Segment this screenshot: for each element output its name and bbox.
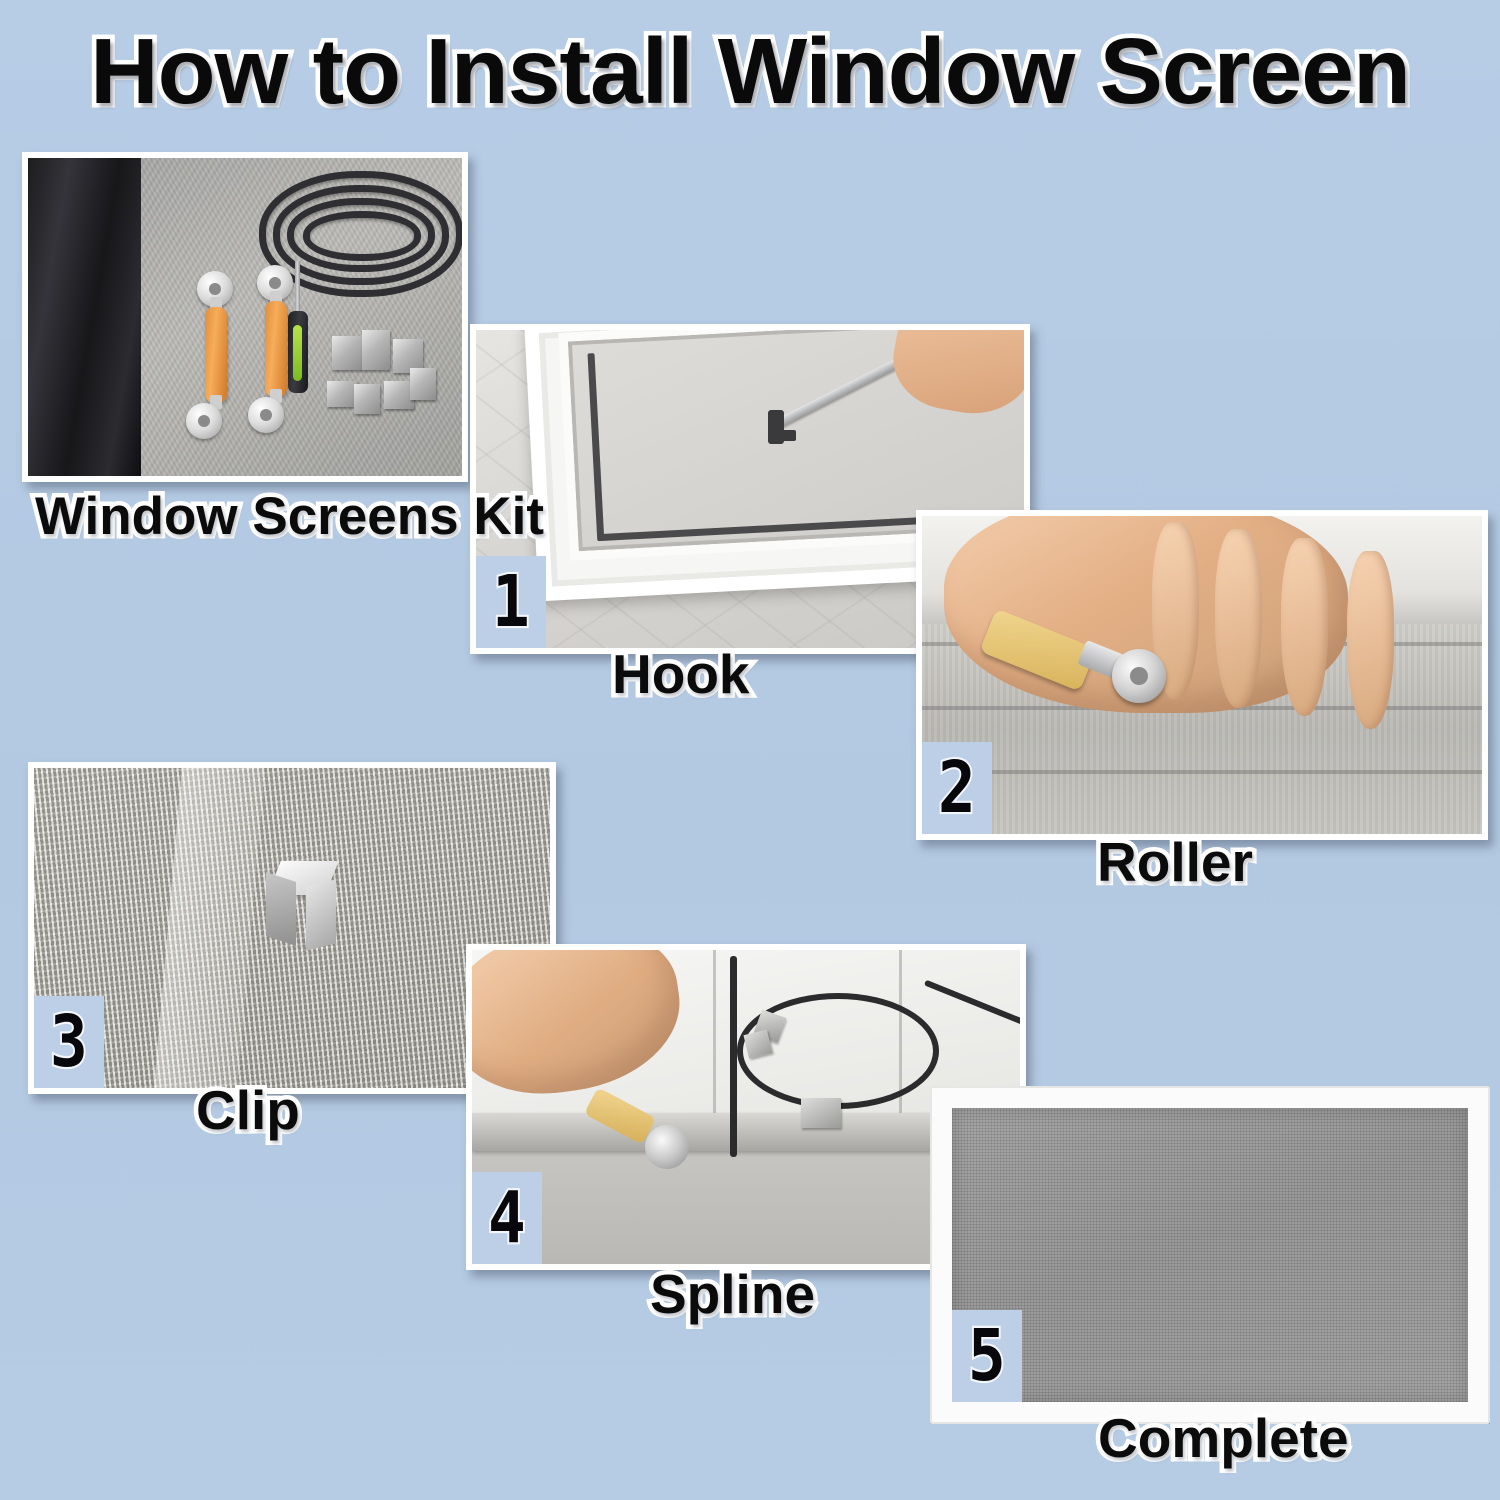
caption-spline: Spline: [650, 1262, 815, 1326]
clip-image: [266, 861, 340, 957]
finished-screen-mesh: [952, 1108, 1468, 1402]
step-photo-complete: 5: [930, 1086, 1490, 1424]
clip-image: [362, 330, 390, 370]
step-number-1: 1: [492, 566, 530, 637]
roller-tool-image-2: [262, 257, 288, 429]
clip-image: [332, 336, 362, 370]
step-number-badge-2: 2: [922, 742, 992, 834]
roller-tool-image: [202, 263, 228, 435]
clip-image: [354, 384, 380, 414]
fingers-image: [1146, 522, 1460, 700]
step-number-badge-3: 3: [34, 996, 104, 1088]
step-photo-kit: [22, 152, 468, 482]
step-number-2: 2: [938, 752, 976, 823]
mesh-roll-image: [28, 158, 141, 476]
step-number-badge-5: 5: [952, 1310, 1022, 1402]
caption-roller: Roller: [1097, 830, 1253, 894]
step-number-4: 4: [488, 1182, 526, 1253]
caption-complete: Complete: [1098, 1406, 1349, 1470]
roller-photo: [922, 516, 1482, 834]
roller-tool-image: [984, 605, 1184, 715]
step-photo-roller: 2: [916, 510, 1488, 840]
step-number-badge-4: 4: [472, 1172, 542, 1264]
kit-photo: [28, 158, 462, 476]
infographic-canvas: How to Install Window Screen: [0, 0, 1500, 1500]
caption-hook: Hook: [612, 642, 750, 706]
step-number-3: 3: [50, 1006, 88, 1077]
step-number-5: 5: [968, 1320, 1006, 1391]
clip-image: [410, 368, 436, 400]
caption-clip: Clip: [196, 1078, 300, 1142]
step-number-badge-1: 1: [476, 556, 546, 648]
page-title: How to Install Window Screen: [0, 18, 1500, 125]
clip-image: [801, 1098, 841, 1128]
screwdriver-image: [288, 307, 308, 391]
caption-kit: Window Screens Kit: [35, 486, 544, 547]
spline-cord-tail: [730, 956, 737, 1157]
roller-tool-image: [587, 1101, 727, 1175]
